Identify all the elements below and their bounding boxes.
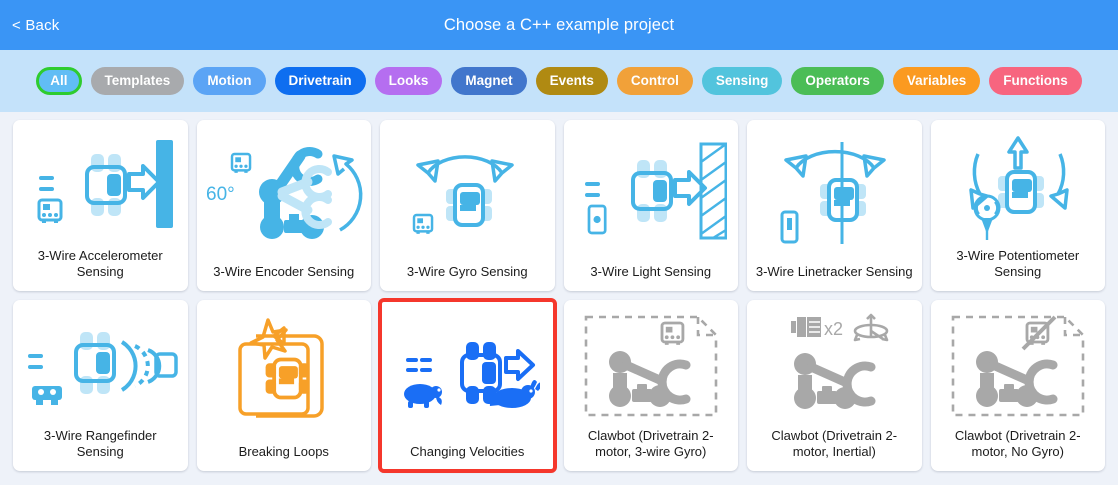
project-card-clawbot-drivetrain-2-motor-3-wire-gyro[interactable]: Clawbot (Drivetrain 2-motor, 3-wire Gyro…	[564, 300, 739, 471]
page-title: Choose a C++ example project	[0, 16, 1118, 35]
project-card-clawbot-drivetrain-2-motor-no-gyro[interactable]: Clawbot (Drivetrain 2-motor, No Gyro)	[931, 300, 1106, 471]
project-card-label: 3-Wire Gyro Sensing	[380, 264, 555, 291]
example-project-grid: 3-Wire Accelerometer Sensing 60° 3-Wire	[0, 112, 1118, 471]
project-card-3-wire-potentiometer-sensing[interactable]: 3-Wire Potentiometer Sensing	[931, 120, 1106, 291]
project-card-3-wire-gyro-sensing[interactable]: 3-Wire Gyro Sensing	[380, 120, 555, 291]
project-card-label: 3-Wire Encoder Sensing	[197, 264, 372, 291]
svg-text:x2: x2	[824, 319, 843, 339]
loop-icon	[197, 300, 372, 444]
project-card-3-wire-linetracker-sensing[interactable]: 3-Wire Linetracker Sensing	[747, 120, 922, 291]
filter-chip-sensing[interactable]: Sensing	[702, 67, 783, 96]
filter-chip-all[interactable]: All	[36, 67, 81, 96]
app-header: < Back Choose a C++ example project	[0, 0, 1118, 50]
project-card-label: 3-Wire Linetracker Sensing	[747, 264, 922, 291]
clawbot-gyro-icon	[564, 300, 739, 428]
back-button[interactable]: < Back	[12, 17, 59, 34]
project-card-label: Breaking Loops	[197, 444, 372, 471]
project-card-label: Clawbot (Drivetrain 2-motor, 3-wire Gyro…	[564, 428, 739, 472]
project-card-label: Changing Velocities	[380, 444, 555, 471]
encoder-icon: 60°	[197, 120, 372, 264]
filter-chip-templates[interactable]: Templates	[91, 67, 185, 96]
filter-chip-looks[interactable]: Looks	[375, 67, 443, 96]
svg-text:60°: 60°	[206, 184, 235, 205]
project-card-changing-velocities[interactable]: Changing Velocities	[380, 300, 555, 471]
filter-chip-magnet[interactable]: Magnet	[451, 67, 526, 96]
rangefinder-icon	[13, 300, 188, 428]
project-card-3-wire-rangefinder-sensing[interactable]: 3-Wire Rangefinder Sensing	[13, 300, 188, 471]
project-card-label: 3-Wire Potentiometer Sensing	[931, 248, 1106, 292]
clawbot-inertial-icon: x2	[747, 300, 922, 428]
category-filter-bar: AllTemplatesMotionDrivetrainLooksMagnetE…	[0, 50, 1118, 112]
project-card-clawbot-drivetrain-2-motor-inertial[interactable]: x2 Clawbot (Drivetrain 2-motor, Inertial…	[747, 300, 922, 471]
linetracker-icon	[747, 120, 922, 264]
velocity-icon	[380, 300, 555, 444]
project-card-3-wire-encoder-sensing[interactable]: 60° 3-Wire Encoder Sensing	[197, 120, 372, 291]
clawbot-nogyro-icon	[931, 300, 1106, 428]
project-card-3-wire-light-sensing[interactable]: 3-Wire Light Sensing	[564, 120, 739, 291]
accelerometer-icon	[13, 120, 188, 248]
filter-chip-motion[interactable]: Motion	[193, 67, 265, 96]
filter-chip-variables[interactable]: Variables	[893, 67, 980, 96]
filter-chip-functions[interactable]: Functions	[989, 67, 1082, 96]
filter-chip-control[interactable]: Control	[617, 67, 693, 96]
filter-chip-drivetrain[interactable]: Drivetrain	[275, 67, 366, 96]
light-icon	[564, 120, 739, 264]
filter-chip-events[interactable]: Events	[536, 67, 608, 96]
project-card-label: 3-Wire Accelerometer Sensing	[13, 248, 188, 292]
project-card-label: Clawbot (Drivetrain 2-motor, Inertial)	[747, 428, 922, 472]
project-card-label: 3-Wire Light Sensing	[564, 264, 739, 291]
filter-chip-operators[interactable]: Operators	[791, 67, 884, 96]
project-card-breaking-loops[interactable]: Breaking Loops	[197, 300, 372, 471]
potentiometer-icon	[931, 120, 1106, 248]
project-card-label: Clawbot (Drivetrain 2-motor, No Gyro)	[931, 428, 1106, 472]
gyro-icon	[380, 120, 555, 264]
project-card-label: 3-Wire Rangefinder Sensing	[13, 428, 188, 472]
project-card-3-wire-accelerometer-sensing[interactable]: 3-Wire Accelerometer Sensing	[13, 120, 188, 291]
